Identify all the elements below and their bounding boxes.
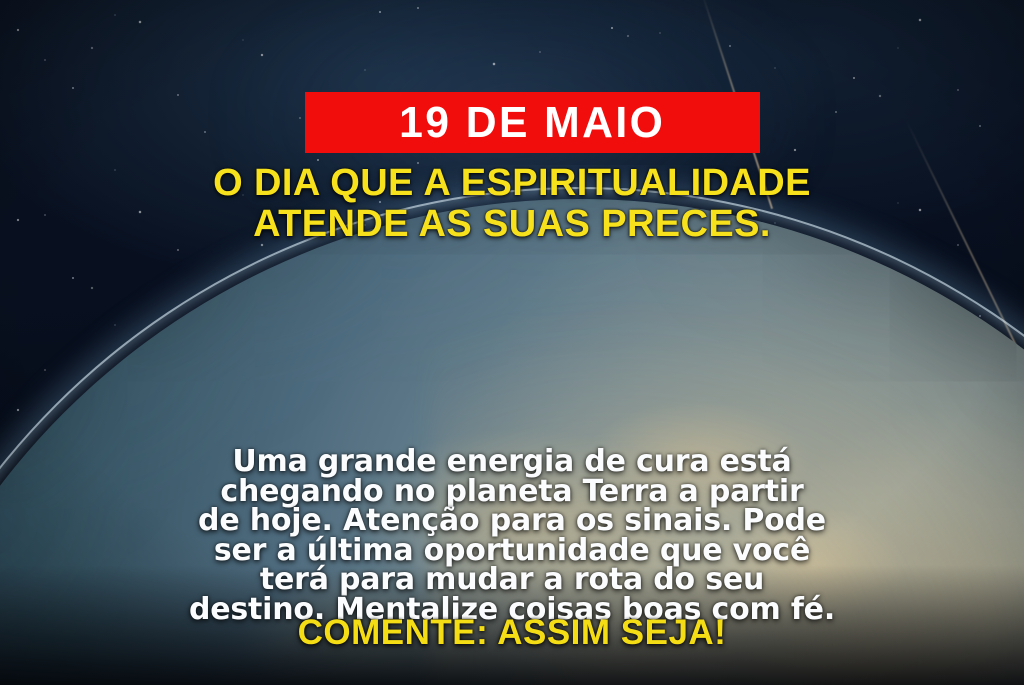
- call-to-action-text: COMENTE: ASSIM SEJA!: [0, 615, 1024, 650]
- headline: O DIA QUE A ESPIRITUALIDADE ATENDE AS SU…: [0, 163, 1024, 245]
- body-line-3: de hoje. Atenção para os sinais. Pode: [0, 506, 1024, 536]
- body-line-2: chegando no planeta Terra a partir: [0, 477, 1024, 507]
- body-paragraph: Uma grande energia de cura está chegando…: [0, 447, 1024, 624]
- headline-line-2: ATENDE AS SUAS PRECES.: [0, 204, 1024, 245]
- body-line-5: terá para mudar a rota do seu: [0, 565, 1024, 595]
- poster-canvas: 19 DE MAIO O DIA QUE A ESPIRITUALIDADE A…: [0, 0, 1024, 685]
- date-banner: 19 DE MAIO: [305, 92, 760, 153]
- date-banner-label: 19 DE MAIO: [399, 101, 665, 145]
- headline-line-1: O DIA QUE A ESPIRITUALIDADE: [0, 163, 1024, 204]
- body-line-1: Uma grande energia de cura está: [0, 447, 1024, 477]
- body-line-4: ser a última oportunidade que você: [0, 536, 1024, 566]
- content-layer: 19 DE MAIO O DIA QUE A ESPIRITUALIDADE A…: [0, 0, 1024, 685]
